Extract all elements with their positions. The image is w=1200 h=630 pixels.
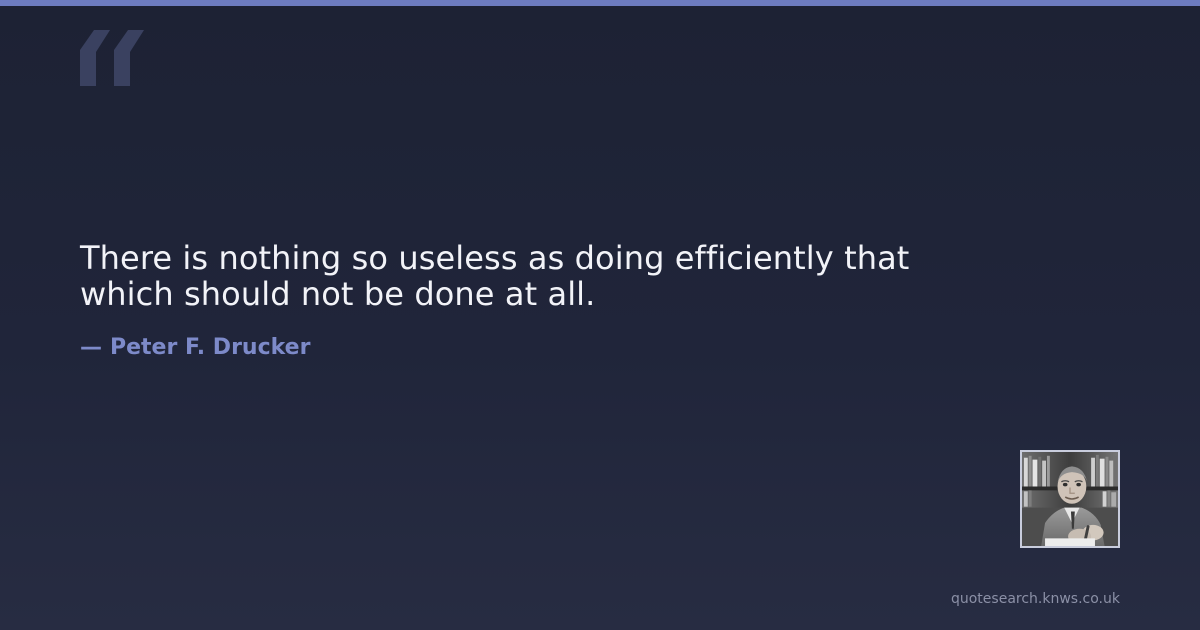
attribution-author: Peter F. Drucker bbox=[110, 335, 310, 360]
top-accent-bar bbox=[0, 0, 1200, 6]
attribution-dash: — bbox=[80, 334, 110, 362]
open-quote-icon bbox=[78, 28, 148, 88]
quote-body: There is nothing so useless as doing eff… bbox=[80, 240, 960, 362]
quote-attribution: —Peter F. Drucker bbox=[80, 312, 960, 362]
author-portrait bbox=[1020, 450, 1120, 548]
quote-text: There is nothing so useless as doing eff… bbox=[80, 240, 960, 312]
watermark: quotesearch.knws.co.uk bbox=[951, 590, 1120, 608]
quote-card: There is nothing so useless as doing eff… bbox=[0, 0, 1200, 630]
